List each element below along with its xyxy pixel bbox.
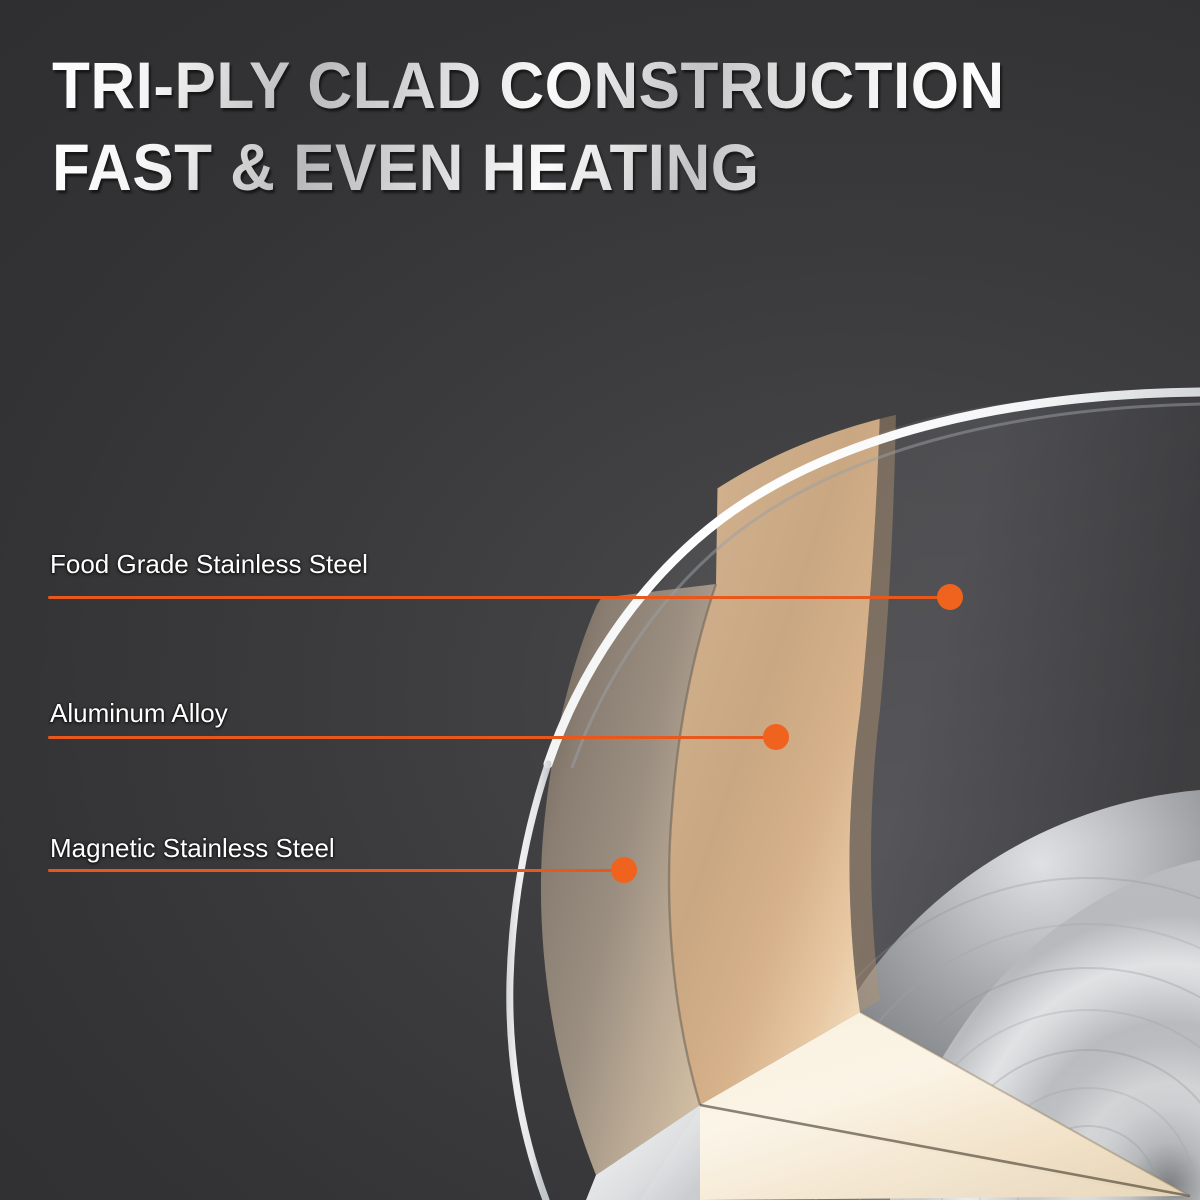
callout-label-aluminum-alloy: Aluminum Alloy [50, 698, 228, 729]
callout-rule-food-grade-stainless-steel [48, 596, 953, 599]
callout-dot-aluminum-alloy [763, 724, 789, 750]
callout-dot-food-grade-stainless-steel [937, 584, 963, 610]
callout-dot-magnetic-stainless-steel [611, 857, 637, 883]
callout-label-food-grade-stainless-steel: Food Grade Stainless Steel [50, 549, 368, 580]
callout-group: Food Grade Stainless Steel Aluminum Allo… [0, 0, 1200, 1200]
callout-label-magnetic-stainless-steel: Magnetic Stainless Steel [50, 833, 335, 864]
callout-rule-magnetic-stainless-steel [48, 869, 626, 872]
infographic-canvas: TRI-PLY CLAD CONSTRUCTION FAST & EVEN HE… [0, 0, 1200, 1200]
callout-rule-aluminum-alloy [48, 736, 778, 739]
